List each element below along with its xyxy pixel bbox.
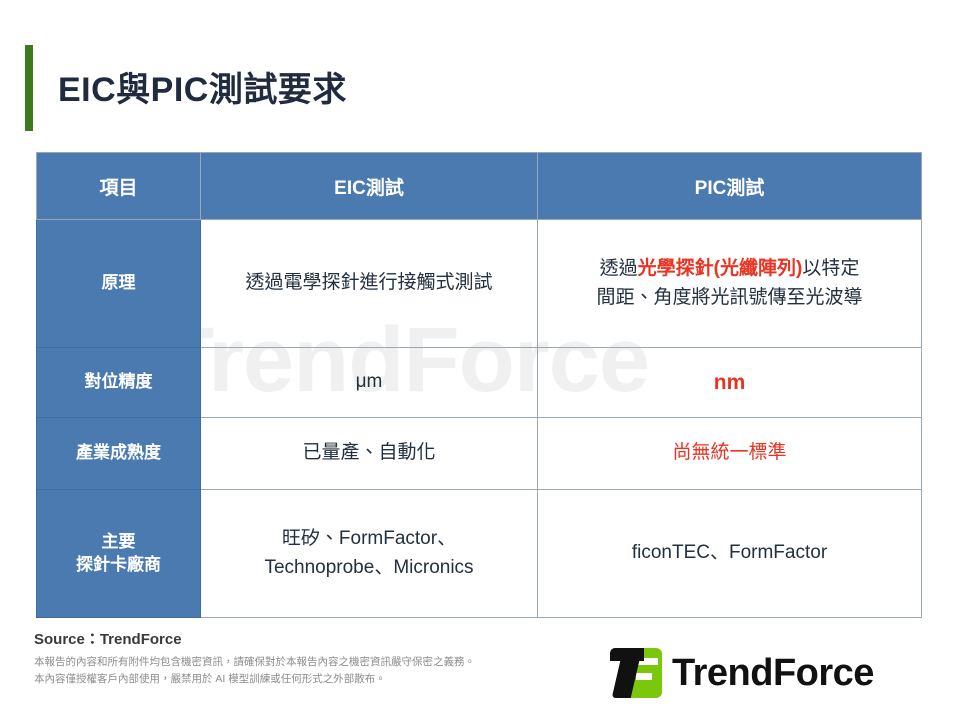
column-header-eic: EIC測試 (201, 153, 538, 220)
cell-eic-principle: 透過電學探針進行接觸式測試 (201, 220, 538, 348)
table-row: 對位精度 μm nm (37, 348, 922, 418)
column-header-pic: PIC測試 (538, 153, 922, 220)
disclaimer-text: 本報告的內容和所有附件均包含機密資訊，請確保對於本報告內容之機密資訊嚴守保密之義… (34, 654, 475, 689)
trendforce-logo: TrendForce (610, 646, 874, 700)
disclaimer-line-2: 本內容僅授權客戶內部使用，嚴禁用於 AI 模型訓練或任何形式之外部散布。 (34, 671, 475, 688)
cell-eic-alignment-accuracy: μm (201, 348, 538, 418)
source-label: Source：TrendForce (34, 628, 182, 649)
trendforce-logo-icon (610, 648, 662, 698)
row-label-industry-maturity: 產業成熟度 (37, 418, 201, 490)
cell-pic-industry-maturity: 尚無統一標準 (538, 418, 922, 490)
row-label-main-vendors-line1: 主要 (102, 532, 136, 551)
pic-principle-post: 以特定 (802, 258, 859, 279)
table-row: 主要 探針卡廠商 旺矽、FormFactor、 Technoprobe、Micr… (37, 490, 922, 618)
disclaimer-line-1: 本報告的內容和所有附件均包含機密資訊，請確保對於本報告內容之機密資訊嚴守保密之義… (34, 654, 475, 671)
table-row: 原理 透過電學探針進行接觸式測試 透過光學探針(光纖陣列)以特定 間距、角度將光… (37, 220, 922, 348)
row-label-principle: 原理 (37, 220, 201, 348)
comparison-table: 項目 EIC測試 PIC測試 原理 透過電學探針進行接觸式測試 透過光學探針(光… (36, 152, 922, 618)
row-label-alignment-accuracy: 對位精度 (37, 348, 201, 418)
trendforce-logo-text: TrendForce (672, 654, 874, 692)
pic-maturity-value: 尚無統一標準 (672, 442, 786, 463)
column-header-item: 項目 (37, 153, 201, 220)
pic-alignment-value: nm (714, 371, 746, 394)
pic-principle-line2: 間距、角度將光訊號傳至光波導 (596, 287, 862, 308)
eic-vendors-line1: 旺矽、FormFactor、 (282, 528, 456, 549)
pic-principle-pre: 透過 (600, 258, 638, 279)
row-label-main-vendors-line2: 探針卡廠商 (76, 555, 161, 574)
cell-pic-principle: 透過光學探針(光纖陣列)以特定 間距、角度將光訊號傳至光波導 (538, 220, 922, 348)
page-title: EIC與PIC測試要求 (58, 62, 347, 111)
cell-eic-main-vendors: 旺矽、FormFactor、 Technoprobe、Micronics (201, 490, 538, 618)
row-label-main-vendors: 主要 探針卡廠商 (37, 490, 201, 618)
cell-pic-main-vendors: ficonTEC、FormFactor (538, 490, 922, 618)
pic-principle-highlight: 光學探針(光纖陣列) (638, 258, 803, 279)
table-header-row: 項目 EIC測試 PIC測試 (37, 153, 922, 220)
eic-vendors-line2: Technoprobe、Micronics (264, 557, 473, 578)
cell-eic-industry-maturity: 已量產、自動化 (201, 418, 538, 490)
cell-pic-alignment-accuracy: nm (538, 348, 922, 418)
title-accent-bar (25, 45, 33, 131)
table-row: 產業成熟度 已量產、自動化 尚無統一標準 (37, 418, 922, 490)
